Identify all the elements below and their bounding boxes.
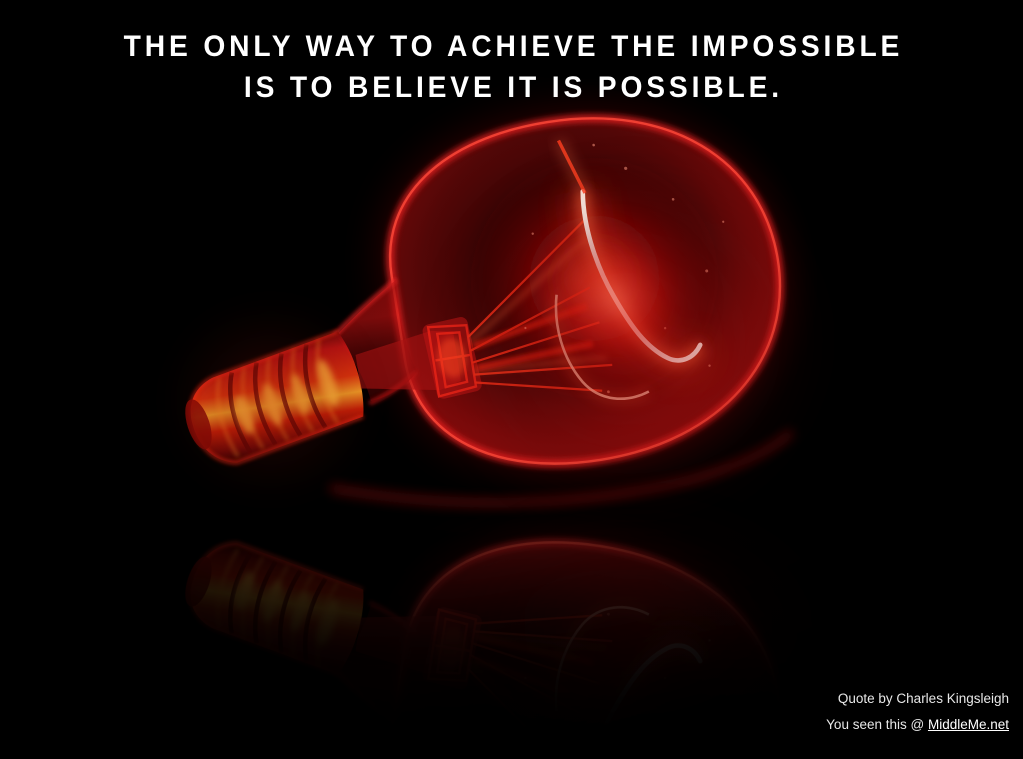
source-prefix: You seen this @: [826, 717, 928, 732]
light-bulb-illustration: [0, 0, 1023, 759]
credits-block: Quote by Charles Kingsleigh You seen thi…: [826, 686, 1009, 738]
middleme-link[interactable]: MiddleMe.net: [928, 717, 1009, 732]
bulb-vector: [0, 0, 1023, 759]
quote-poster: THE ONLY WAY TO ACHIEVE THE IMPOSSIBLE I…: [0, 0, 1023, 759]
source-line: You seen this @ MiddleMe.net: [826, 712, 1009, 738]
screw-base: [173, 329, 370, 470]
quote-attribution: Quote by Charles Kingsleigh: [826, 686, 1009, 712]
bulb-reflection: [145, 481, 807, 759]
